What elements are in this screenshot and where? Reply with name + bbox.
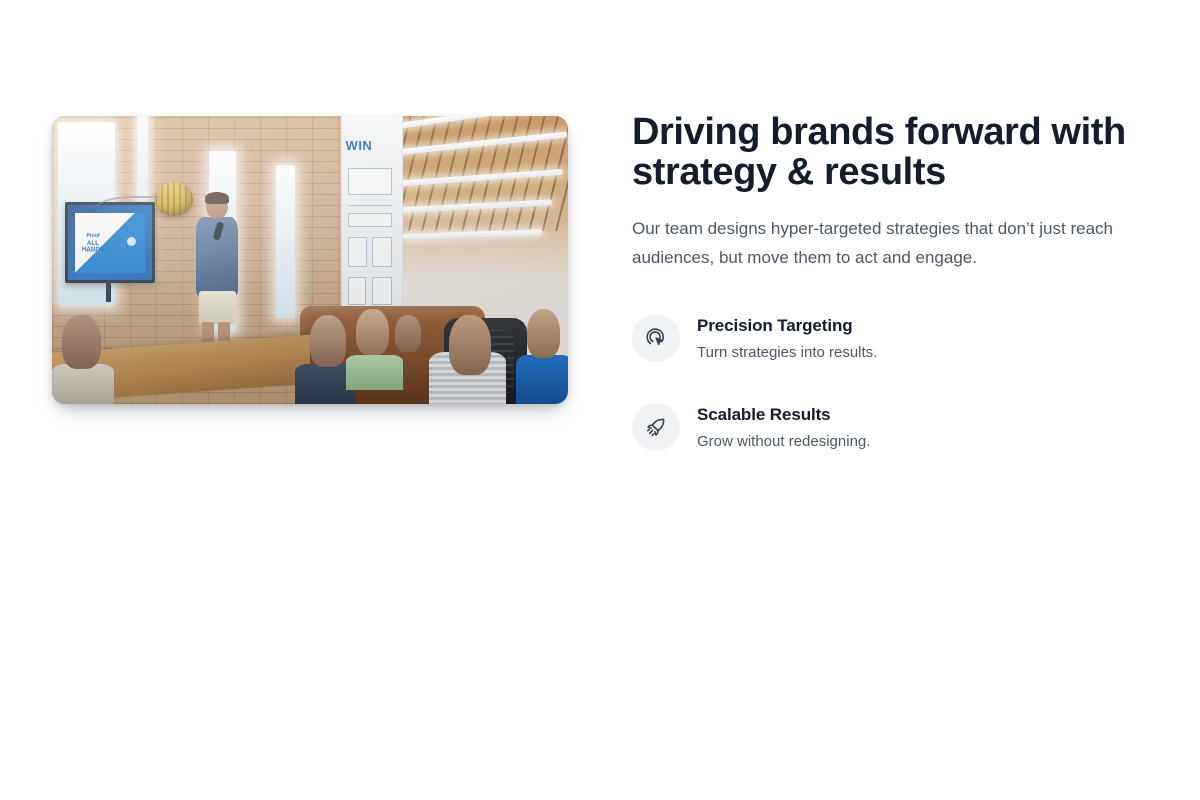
feature-item-precision-targeting: Precision Targeting Turn strategies into… xyxy=(632,314,1172,363)
feature-description: Grow without redesigning. xyxy=(697,432,870,452)
feature-text-block: Precision Targeting Turn strategies into… xyxy=(697,314,877,363)
office-meeting-photo: WIN Proof ALL HANDS 4/26/2019 xyxy=(52,116,568,404)
media-column: WIN Proof ALL HANDS 4/26/2019 xyxy=(0,0,632,404)
rocket-launch-icon xyxy=(632,403,680,451)
text-column: Driving brands forward with strategy & r… xyxy=(632,0,1172,452)
feature-title: Scalable Results xyxy=(697,404,870,426)
section-headline: Driving brands forward with strategy & r… xyxy=(632,112,1132,192)
feature-list: Precision Targeting Turn strategies into… xyxy=(632,314,1172,452)
page-root: WIN Proof ALL HANDS 4/26/2019 xyxy=(0,0,1200,800)
photo-color-grade xyxy=(52,116,568,404)
section-subcopy: Our team designs hyper-targeted strategi… xyxy=(632,214,1152,272)
feature-item-scalable-results: Scalable Results Grow without redesignin… xyxy=(632,403,1172,452)
feature-title: Precision Targeting xyxy=(697,315,877,337)
photo-illustration: WIN Proof ALL HANDS 4/26/2019 xyxy=(52,116,568,404)
feature-description: Turn strategies into results. xyxy=(697,343,877,363)
feature-section: WIN Proof ALL HANDS 4/26/2019 xyxy=(0,0,1200,560)
feature-text-block: Scalable Results Grow without redesignin… xyxy=(697,403,870,452)
cursor-click-icon xyxy=(632,314,680,362)
